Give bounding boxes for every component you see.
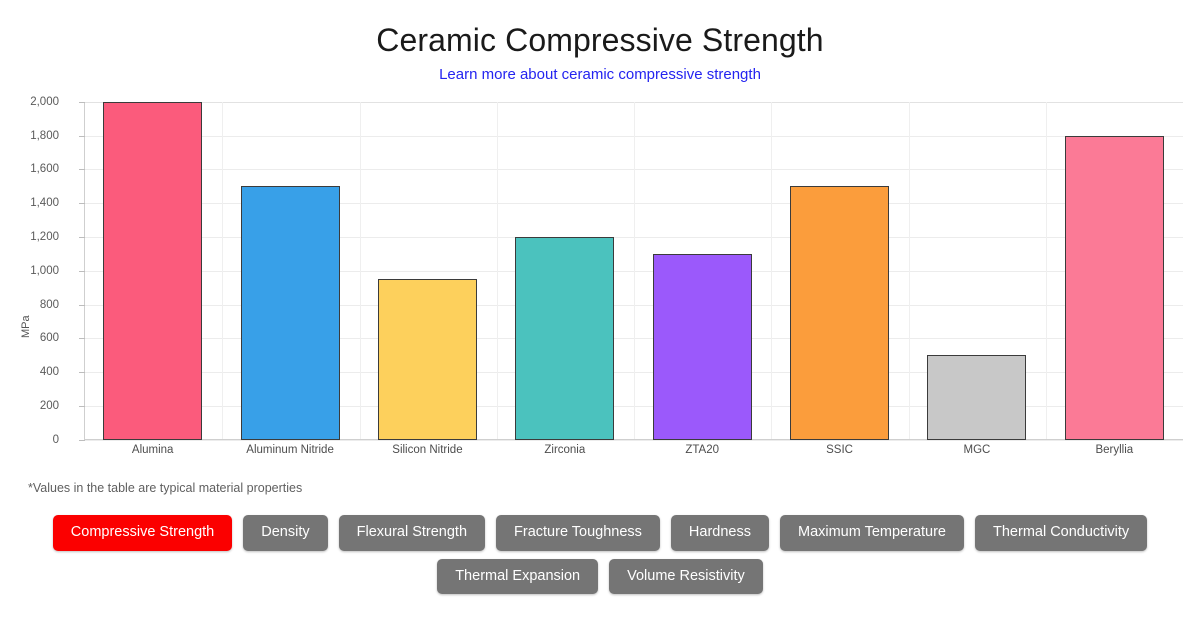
x-axis-label: Beryllia — [1046, 444, 1183, 456]
x-axis-label: Aluminum Nitride — [221, 444, 358, 456]
property-button-thermal-expansion[interactable]: Thermal Expansion — [437, 559, 598, 595]
bar-beryllia[interactable] — [1065, 136, 1164, 440]
bar-aluminum-nitride[interactable] — [241, 186, 340, 440]
learn-more-link[interactable]: Learn more about ceramic compressive str… — [439, 66, 761, 83]
bar-slot — [634, 102, 771, 440]
y-axis-tick-label: 400 — [0, 366, 59, 378]
y-axis-tick-label: 0 — [0, 434, 59, 446]
y-axis-tick-label: 1,400 — [0, 197, 59, 209]
bar-zirconia[interactable] — [515, 237, 614, 440]
chart-header: Ceramic Compressive Strength Learn more … — [0, 0, 1200, 84]
property-button-fracture-toughness[interactable]: Fracture Toughness — [496, 515, 660, 551]
bar-zta20[interactable] — [653, 254, 752, 440]
property-button-hardness[interactable]: Hardness — [671, 515, 769, 551]
property-button-row: Compressive StrengthDensityFlexural Stre… — [0, 515, 1200, 551]
bar-mgc[interactable] — [927, 355, 1026, 440]
y-axis-tick-label: 600 — [0, 332, 59, 344]
bar-series — [84, 102, 1183, 440]
property-button-flexural-strength[interactable]: Flexural Strength — [339, 515, 485, 551]
y-axis-tick-label: 1,600 — [0, 163, 59, 175]
gridline — [85, 440, 1183, 441]
y-axis-tick-mark — [79, 440, 85, 441]
x-axis-label: Zirconia — [496, 444, 633, 456]
x-axis-label: SSIC — [771, 444, 908, 456]
bar-silicon-nitride[interactable] — [378, 279, 477, 440]
bar-slot — [359, 102, 496, 440]
x-axis-label: Silicon Nitride — [359, 444, 496, 456]
x-axis-label: Alumina — [84, 444, 221, 456]
property-button-compressive-strength[interactable]: Compressive Strength — [53, 515, 232, 551]
bar-slot — [84, 102, 221, 440]
x-axis-labels: AluminaAluminum NitrideSilicon NitrideZi… — [84, 444, 1183, 456]
bar-slot — [496, 102, 633, 440]
y-axis-tick-label: 1,800 — [0, 130, 59, 142]
bar-ssic[interactable] — [790, 186, 889, 440]
bar-slot — [908, 102, 1045, 440]
bar-alumina[interactable] — [103, 102, 202, 440]
property-button-volume-resistivity[interactable]: Volume Resistivity — [609, 559, 763, 595]
property-button-thermal-conductivity[interactable]: Thermal Conductivity — [975, 515, 1147, 551]
bar-slot — [1046, 102, 1183, 440]
footnote-text: *Values in the table are typical materia… — [28, 481, 302, 495]
chart-plot-area: MPa 02004006008001,0001,2001,4001,6001,8… — [0, 92, 1200, 464]
property-button-row: Thermal ExpansionVolume Resistivity — [0, 559, 1200, 595]
y-axis-tick-label: 2,000 — [0, 96, 59, 108]
bar-slot — [221, 102, 358, 440]
y-axis-tick-label: 1,000 — [0, 265, 59, 277]
y-axis-tick-label: 200 — [0, 400, 59, 412]
page-title: Ceramic Compressive Strength — [0, 22, 1200, 59]
x-axis-label: ZTA20 — [634, 444, 771, 456]
x-axis-label: MGC — [908, 444, 1045, 456]
property-button-maximum-temperature[interactable]: Maximum Temperature — [780, 515, 964, 551]
y-axis-tick-label: 800 — [0, 299, 59, 311]
property-button-group: Compressive StrengthDensityFlexural Stre… — [0, 515, 1200, 602]
property-button-density[interactable]: Density — [243, 515, 327, 551]
y-axis-tick-label: 1,200 — [0, 231, 59, 243]
bar-slot — [771, 102, 908, 440]
